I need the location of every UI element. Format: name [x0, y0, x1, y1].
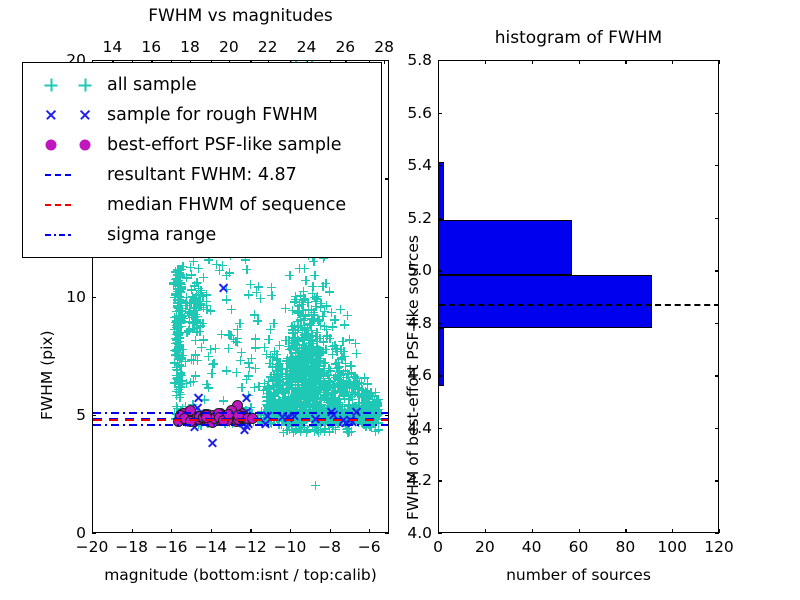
scatter-point-all: [318, 282, 327, 291]
legend-label: resultant FWHM: 4.87: [107, 160, 297, 190]
scatter-point-all: [170, 325, 179, 334]
scatter-point-all: [305, 365, 314, 374]
scatter-xticklabel: −18: [110, 538, 154, 556]
histogram-ytick-right: [715, 533, 719, 534]
scatter-point-all: [237, 383, 246, 392]
legend-label: best-effort PSF-like sample: [107, 130, 342, 160]
scatter-point-all: [182, 379, 191, 388]
scatter-point-all: [264, 335, 273, 344]
scatter-point-all: [320, 358, 329, 367]
histogram-ytick: [438, 480, 442, 481]
histogram-yticklabel: 5.8: [386, 51, 432, 69]
scatter-point-rough: [193, 392, 204, 403]
histogram-yticklabel: 4.4: [386, 419, 432, 437]
scatter-top-xticklabel: 20: [211, 38, 247, 56]
scatter-point-all: [172, 347, 181, 356]
scatter-point-all: [209, 359, 218, 368]
histogram-bar: [439, 220, 572, 275]
scatter-point-all: [308, 354, 317, 363]
scatter-point-all: [336, 370, 345, 379]
scatter-point-all: [267, 283, 276, 292]
scatter-top-xticklabel: 18: [172, 38, 208, 56]
scatter-point-all: [272, 350, 281, 359]
legend-glyph: [45, 79, 58, 92]
histogram-title: histogram of FWHM: [438, 28, 719, 48]
histogram-ytick: [438, 113, 442, 114]
legend-label: all sample: [107, 70, 197, 100]
scatter-hline-2: [93, 412, 388, 414]
legend-glyph: [79, 79, 92, 92]
histogram-xtick: [532, 529, 533, 533]
scatter-xtick: [369, 529, 370, 533]
histogram-xtick-top: [579, 60, 580, 64]
scatter-point-all: [314, 345, 323, 354]
histogram-ytick: [438, 60, 442, 61]
scatter-point-all: [374, 425, 383, 434]
histogram-xtick-top: [719, 60, 720, 64]
scatter-point-rough: [241, 393, 252, 404]
scatter-point-all: [336, 305, 345, 314]
scatter-point-all: [300, 264, 309, 273]
scatter-point-all: [171, 378, 180, 387]
histogram-xtick-top: [532, 60, 533, 64]
scatter-point-all: [199, 273, 208, 282]
scatter-point-all: [236, 356, 245, 365]
histogram-ytick-right: [715, 218, 719, 219]
scatter-point-all: [207, 369, 216, 378]
scatter-plot-title: FWHM vs magnitudes: [92, 6, 389, 26]
scatter-ytick: [92, 297, 96, 298]
histogram-xtick: [719, 529, 720, 533]
scatter-point-all: [343, 428, 352, 437]
scatter-point-all: [206, 345, 215, 354]
scatter-point-all: [235, 319, 244, 328]
scatter-top-xticklabel: 14: [94, 38, 130, 56]
scatter-xtick: [132, 529, 133, 533]
scatter-point-all: [346, 361, 355, 370]
scatter-yticklabel: 10: [44, 288, 86, 306]
legend-glyph: [45, 109, 57, 121]
scatter-point-all: [189, 356, 198, 365]
histogram-yticklabel: 4.0: [386, 524, 432, 542]
histogram-bar: [439, 275, 652, 328]
legend-line: [45, 234, 71, 236]
scatter-point-all: [190, 281, 199, 290]
scatter-xtick: [211, 529, 212, 533]
legend-marker-plus: [29, 70, 107, 100]
scatter-point-all: [311, 302, 320, 311]
legend-label: sigma range: [107, 220, 216, 250]
scatter-point-all: [222, 366, 231, 375]
scatter-point-all: [182, 328, 191, 337]
scatter-point-all: [311, 481, 320, 490]
scatter-yticklabel: 5: [44, 406, 86, 424]
histogram-yticklabel: 5.2: [386, 209, 432, 227]
legend-label: sample for rough FWHM: [107, 100, 318, 130]
scatter-ytick-right: [385, 297, 389, 298]
histogram-yticklabel: 4.6: [386, 366, 432, 384]
scatter-point-all: [178, 262, 187, 271]
scatter-point-all: [303, 425, 312, 434]
legend-entry-2: best-effort PSF-like sample: [29, 130, 373, 160]
histogram-xtick: [485, 529, 486, 533]
histogram-xtick-top: [672, 60, 673, 64]
histogram-xtick-top: [625, 60, 626, 64]
scatter-ytick-right: [385, 415, 389, 416]
histogram-ytick: [438, 533, 442, 534]
histogram-xticklabel: 100: [650, 538, 694, 556]
scatter-point-rough: [207, 437, 218, 448]
scatter-point-all: [294, 336, 303, 345]
scatter-point-all: [328, 322, 337, 331]
scatter-ytick: [92, 533, 96, 534]
legend-marker-dashdot-line: [29, 220, 107, 250]
legend: all samplesample for rough FWHMbest-effo…: [22, 62, 382, 258]
scatter-point-all: [288, 306, 297, 315]
scatter-point-all: [202, 290, 211, 299]
scatter-point-all: [169, 278, 178, 287]
scatter-point-all: [319, 390, 328, 399]
legend-marker-dot: [29, 130, 107, 160]
scatter-point-all: [172, 335, 181, 344]
histogram-ytick: [438, 165, 442, 166]
scatter-point-all: [354, 383, 363, 392]
scatter-point-all: [339, 390, 348, 399]
histogram-yticklabel: 4.2: [386, 471, 432, 489]
scatter-point-all: [254, 282, 263, 291]
scatter-hline-3: [93, 424, 388, 426]
histogram-xtick: [579, 529, 580, 533]
histogram-yticklabel: 5.4: [386, 156, 432, 174]
histogram-ytick-right: [715, 113, 719, 114]
scatter-point-all: [289, 358, 298, 367]
scatter-point-all: [175, 393, 184, 402]
scatter-xtick: [330, 529, 331, 533]
scatter-xticklabel: −10: [268, 538, 312, 556]
histogram-yticklabel: 5.6: [386, 104, 432, 122]
scatter-point-all: [262, 350, 271, 359]
scatter-point-all: [352, 349, 361, 358]
legend-glyph: [79, 109, 91, 121]
scatter-point-all: [310, 271, 319, 280]
legend-entry-4: median FHWM of sequence: [29, 190, 373, 220]
scatter-point-all: [310, 400, 319, 409]
legend-entry-3: resultant FWHM: 4.87: [29, 160, 373, 190]
scatter-point-all: [269, 375, 278, 384]
scatter-point-all: [285, 271, 294, 280]
scatter-point-all: [182, 273, 191, 282]
scatter-xticklabel: −14: [189, 538, 233, 556]
histogram-xtick: [625, 529, 626, 533]
scatter-top-xticklabel: 22: [250, 38, 286, 56]
scatter-point-all: [244, 290, 253, 299]
legend-glyph: [46, 140, 57, 151]
scatter-point-all: [328, 342, 337, 351]
scatter-ytick-right: [385, 178, 389, 179]
histogram-median-line: [439, 304, 718, 306]
histogram-ytick: [438, 323, 442, 324]
scatter-point-rough: [218, 283, 229, 294]
scatter-xticklabel: −6: [347, 538, 391, 556]
histogram-bar: [439, 162, 444, 220]
legend-glyph: [80, 140, 91, 151]
figure-canvas: FWHM vs magnitudes magnitude (bottom:isn…: [0, 0, 800, 600]
histogram-ytick: [438, 270, 442, 271]
histogram-data-area: [439, 61, 718, 532]
scatter-point-all: [254, 382, 263, 391]
scatter-xtick: [171, 529, 172, 533]
scatter-xtick: [250, 529, 251, 533]
scatter-top-xticklabel: 26: [327, 38, 363, 56]
scatter-point-all: [227, 305, 236, 314]
legend-line: [45, 174, 71, 176]
scatter-xticklabel: −16: [149, 538, 193, 556]
scatter-point-all: [222, 295, 231, 304]
scatter-point-all: [219, 396, 228, 405]
histogram-ytick: [438, 375, 442, 376]
histogram-xticklabel: 20: [463, 538, 507, 556]
legend-entry-1: sample for rough FWHM: [29, 100, 373, 130]
histogram-yticklabel: 4.8: [386, 314, 432, 332]
histogram-ytick-right: [715, 323, 719, 324]
legend-marker-dashed-line: [29, 160, 107, 190]
legend-entry-5: sigma range: [29, 220, 373, 250]
scatter-point-all: [299, 295, 308, 304]
scatter-point-all: [267, 291, 276, 300]
scatter-top-xticklabel: 24: [289, 38, 325, 56]
scatter-point-all: [256, 294, 265, 303]
legend-marker-x: [29, 100, 107, 130]
scatter-xtick: [290, 529, 291, 533]
scatter-point-all: [304, 335, 313, 344]
scatter-point-all: [174, 302, 183, 311]
scatter-point-all: [195, 327, 204, 336]
scatter-point-all: [297, 377, 306, 386]
scatter-point-all: [182, 298, 191, 307]
scatter-top-xticklabel: 16: [133, 38, 169, 56]
scatter-point-all: [232, 368, 241, 377]
scatter-point-all: [179, 314, 188, 323]
histogram-x-axis-label: number of sources: [438, 566, 719, 584]
histogram-ytick-right: [715, 428, 719, 429]
legend-label: median FHWM of sequence: [107, 190, 346, 220]
scatter-point-all: [199, 303, 208, 312]
scatter-point-all: [316, 382, 325, 391]
legend-line: [45, 204, 71, 206]
scatter-point-rough: [239, 425, 250, 436]
scatter-point-all: [186, 263, 195, 272]
scatter-point-all: [266, 325, 275, 334]
scatter-point-all: [253, 316, 262, 325]
scatter-point-all: [204, 383, 213, 392]
scatter-point-all: [225, 268, 234, 277]
histogram-ytick-right: [715, 480, 719, 481]
histogram-ytick-right: [715, 60, 719, 61]
histogram-ytick: [438, 218, 442, 219]
scatter-hline-1: [93, 419, 388, 421]
histogram-ytick-right: [715, 375, 719, 376]
legend-entry-0: all sample: [29, 70, 373, 100]
histogram-xticklabel: 60: [557, 538, 601, 556]
scatter-ytick: [92, 415, 96, 416]
scatter-point-all: [303, 392, 312, 401]
histogram-yticklabel: 5.0: [386, 261, 432, 279]
scatter-point-all: [192, 315, 201, 324]
scatter-point-all: [364, 394, 373, 403]
scatter-yticklabel: 0: [44, 524, 86, 542]
scatter-xticklabel: −12: [228, 538, 272, 556]
scatter-point-all: [340, 320, 349, 329]
histogram-xtick: [672, 529, 673, 533]
histogram-ytick-right: [715, 270, 719, 271]
scatter-point-all: [244, 371, 253, 380]
scatter-xticklabel: −8: [308, 538, 352, 556]
histogram-xticklabel: 120: [697, 538, 741, 556]
scatter-point-all: [242, 265, 251, 274]
histogram-ytick: [438, 428, 442, 429]
histogram-xtick-top: [485, 60, 486, 64]
histogram-ytick-right: [715, 165, 719, 166]
legend-marker-dashed-line: [29, 190, 107, 220]
scatter-point-all: [268, 362, 277, 371]
histogram-bar: [439, 328, 444, 386]
histogram-xticklabel: 80: [603, 538, 647, 556]
histogram-xticklabel: 40: [510, 538, 554, 556]
scatter-point-all: [251, 334, 260, 343]
scatter-x-axis-label: magnitude (bottom:isnt / top:calib): [92, 566, 389, 584]
scatter-point-all: [231, 337, 240, 346]
scatter-point-all: [199, 335, 208, 344]
scatter-point-all: [308, 282, 317, 291]
scatter-point-all: [345, 377, 354, 386]
